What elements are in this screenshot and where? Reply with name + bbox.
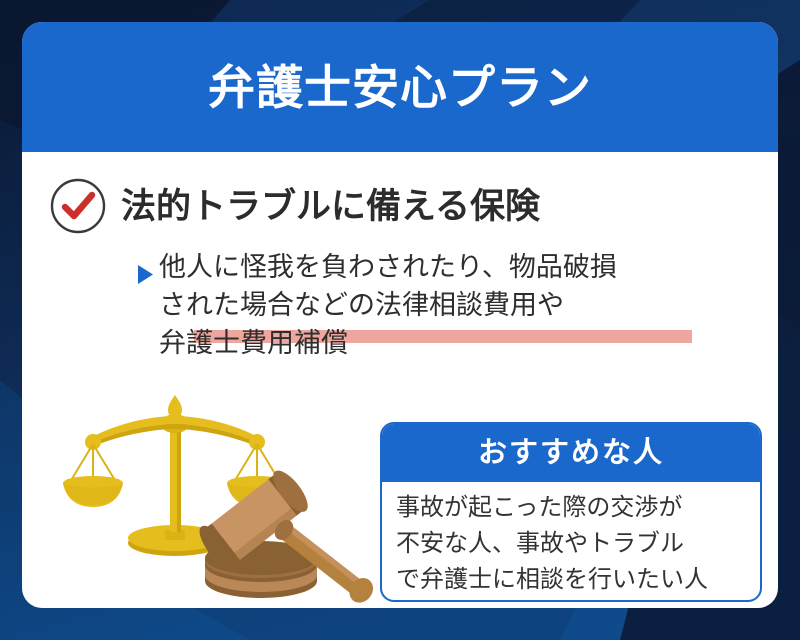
recommended-line: 事故が起こった際の交渉が <box>396 490 760 526</box>
description-line-text: された場合などの法律相談費用や <box>159 286 564 324</box>
description-line-text: 他人に怪我を負わされたり、物品破損 <box>159 248 617 286</box>
scales-and-gavel-illustration <box>62 390 382 605</box>
feature-heading-row: 法的トラブルに備える保険 <box>50 178 778 234</box>
feature-heading: 法的トラブルに備える保険 <box>121 189 540 224</box>
description-line-text: 弁護士費用補償 <box>159 324 348 362</box>
description-line: 弁護士費用補償 <box>137 324 737 362</box>
page-title: 弁護士安心プラン <box>208 64 592 111</box>
description-line: 他人に怪我を負わされたり、物品破損 <box>137 248 737 286</box>
feature-description: 他人に怪我を負わされたり、物品破損 された場合などの法律相談費用や 弁護士費用補… <box>137 248 737 362</box>
recommended-for-header: おすすめな人 <box>382 424 760 482</box>
recommended-for-card: おすすめな人 事故が起こった際の交渉が 不安な人、事故やトラブル で弁護士に相談… <box>380 422 762 602</box>
gavel-icon <box>193 464 377 605</box>
recommended-for-title: おすすめな人 <box>478 439 664 468</box>
check-circle-icon <box>50 178 106 234</box>
description-line: された場合などの法律相談費用や <box>137 286 737 324</box>
plan-card: 弁護士安心プラン 法的トラブルに備える保険 他人に怪我を負わされたり、物品破損 … <box>22 22 778 608</box>
triangle-right-icon <box>137 257 154 278</box>
plan-header: 弁護士安心プラン <box>22 22 778 152</box>
recommended-for-body: 事故が起こった際の交渉が 不安な人、事故やトラブル で弁護士に相談を行いたい人 <box>382 482 760 598</box>
recommended-line: 不安な人、事故やトラブル <box>396 526 760 562</box>
recommended-line: で弁護士に相談を行いたい人 <box>396 562 760 598</box>
